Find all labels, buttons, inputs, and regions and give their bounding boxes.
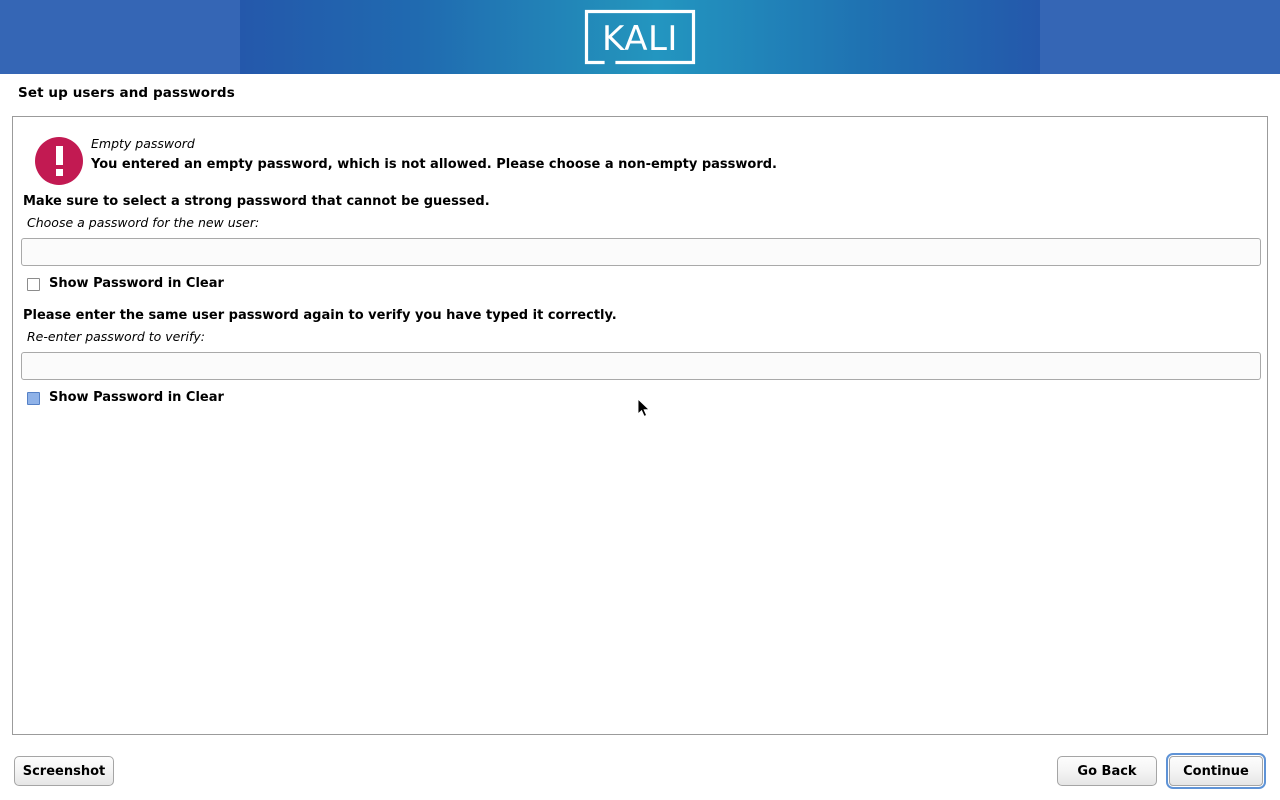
kali-logo: KALI: [583, 8, 697, 66]
instruction-strong-password: Make sure to select a strong password th…: [23, 193, 1269, 211]
content-panel: Empty password You entered an empty pass…: [12, 116, 1268, 735]
error-exclamation-icon: [35, 137, 83, 185]
error-alert: Empty password You entered an empty pass…: [23, 127, 1253, 197]
verify-field-label: Re-enter password to verify:: [27, 328, 1269, 345]
show-password-row-2[interactable]: Show Password in Clear: [27, 389, 1269, 407]
password-input[interactable]: [21, 238, 1261, 266]
verify-password-input[interactable]: [21, 352, 1261, 380]
show-password-row-1[interactable]: Show Password in Clear: [27, 275, 1269, 293]
error-message: You entered an empty password, which is …: [91, 156, 1241, 173]
show-password-label-2: Show Password in Clear: [49, 390, 224, 406]
screenshot-button[interactable]: Screenshot: [14, 756, 114, 786]
kali-banner: KALI: [0, 0, 1280, 74]
show-password-label-1: Show Password in Clear: [49, 276, 224, 292]
page-title: Set up users and passwords: [18, 85, 235, 101]
error-title: Empty password: [91, 136, 1241, 152]
footer-button-bar: Screenshot Go Back Continue: [0, 748, 1280, 800]
kali-logo-text: KALI: [602, 19, 678, 59]
section-spacer: [13, 293, 1269, 307]
password-field-label: Choose a password for the new user:: [27, 214, 1269, 231]
continue-button[interactable]: Continue: [1169, 756, 1263, 786]
go-back-button[interactable]: Go Back: [1057, 756, 1157, 786]
error-text-group: Empty password You entered an empty pass…: [91, 136, 1241, 173]
instruction-reenter-password: Please enter the same user password agai…: [23, 307, 1269, 325]
show-password-checkbox-2[interactable]: [27, 392, 40, 405]
continue-button-focus-ring: Continue: [1166, 753, 1266, 789]
password-form: Make sure to select a strong password th…: [13, 193, 1269, 407]
show-password-checkbox-1[interactable]: [27, 278, 40, 291]
